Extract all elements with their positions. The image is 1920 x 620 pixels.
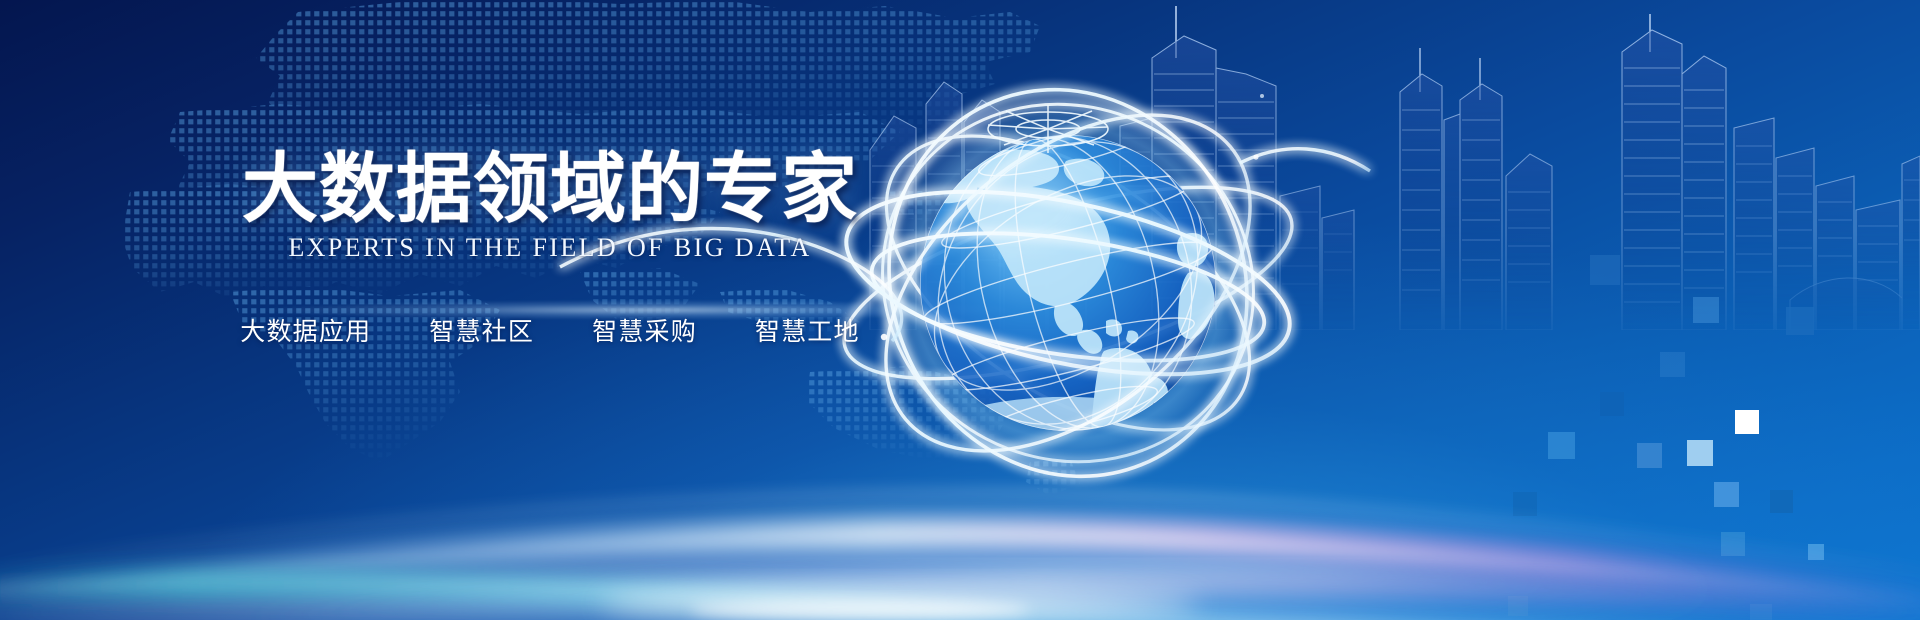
pixel-square [1660,352,1685,377]
pixel-square [1600,392,1624,416]
nav-item-smart-procurement[interactable]: 智慧采购 [592,312,697,348]
pixel-square [1714,482,1739,507]
nav-item-smart-construction-site[interactable]: 智慧工地 [755,312,860,348]
banner-nav: 大数据应用智慧社区智慧采购智慧工地 [0,312,1100,348]
pixel-square [1721,532,1745,556]
pixel-square [1808,544,1824,560]
pixel-square [1590,255,1620,285]
big-data-hero-banner: 大数据领域的专家 EXPERTS IN THE FIELD OF BIG DAT… [0,0,1920,620]
pixel-square [1786,307,1814,335]
pixel-square [1508,596,1528,616]
banner-text-content: 大数据领域的专家 EXPERTS IN THE FIELD OF BIG DAT… [0,0,1100,620]
pixel-square [1750,604,1772,620]
pixel-square [1637,443,1662,468]
nav-item-bigdata-application[interactable]: 大数据应用 [240,312,371,348]
page-title: 大数据领域的专家 [0,150,1100,228]
pixel-square [1548,432,1575,459]
pixel-square [1770,490,1793,513]
pixel-square [1735,410,1759,434]
pixel-square [1687,440,1713,466]
page-subtitle: EXPERTS IN THE FIELD OF BIG DATA [0,233,1100,263]
nav-item-smart-community[interactable]: 智慧社区 [429,312,534,348]
pixel-square [1513,492,1537,516]
pixel-square [1693,297,1719,323]
